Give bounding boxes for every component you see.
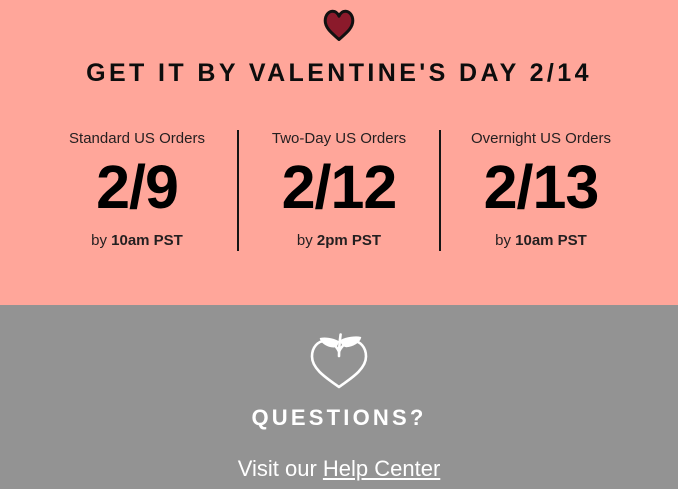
shipping-column-cutoff: by 10am PST [37,232,237,250]
shipping-column-date: 2/9 [37,157,237,218]
cutoff-time: 10am PST [111,232,183,249]
questions-subtext: Visit our Help Center [238,458,441,480]
shipping-column-title: Standard US Orders [37,130,237,148]
valentines-promo-panel: GET IT BY VALENTINE'S DAY 2/14 Standard … [0,0,678,305]
email-body: GET IT BY VALENTINE'S DAY 2/14 Standard … [0,0,678,489]
peach-icon [308,332,370,390]
cutoff-time: 10am PST [515,232,587,249]
heart-icon [322,9,356,41]
cutoff-time: 2pm PST [317,232,381,249]
shipping-column-two-day: Two-Day US Orders 2/12 by 2pm PST [238,130,440,251]
shipping-column-date: 2/12 [239,157,439,218]
help-center-link[interactable]: Help Center [323,456,440,481]
cutoff-prefix: by [297,232,317,249]
questions-panel: QUESTIONS? Visit our Help Center [0,305,678,489]
shipping-column-date: 2/13 [441,157,641,218]
cutoff-prefix: by [495,232,515,249]
questions-heading: QUESTIONS? [251,407,426,429]
shipping-column-title: Two-Day US Orders [239,130,439,148]
shipping-column-overnight: Overnight US Orders 2/13 by 10am PST [440,130,642,251]
visit-our-label: Visit our [238,456,323,481]
shipping-column-cutoff: by 10am PST [441,232,641,250]
shipping-column-standard: Standard US Orders 2/9 by 10am PST [36,130,238,251]
shipping-deadlines: Standard US Orders 2/9 by 10am PST Two-D… [0,130,678,251]
shipping-column-title: Overnight US Orders [441,130,641,148]
shipping-column-cutoff: by 2pm PST [239,232,439,250]
cutoff-prefix: by [91,232,111,249]
page-title: GET IT BY VALENTINE'S DAY 2/14 [86,61,592,86]
